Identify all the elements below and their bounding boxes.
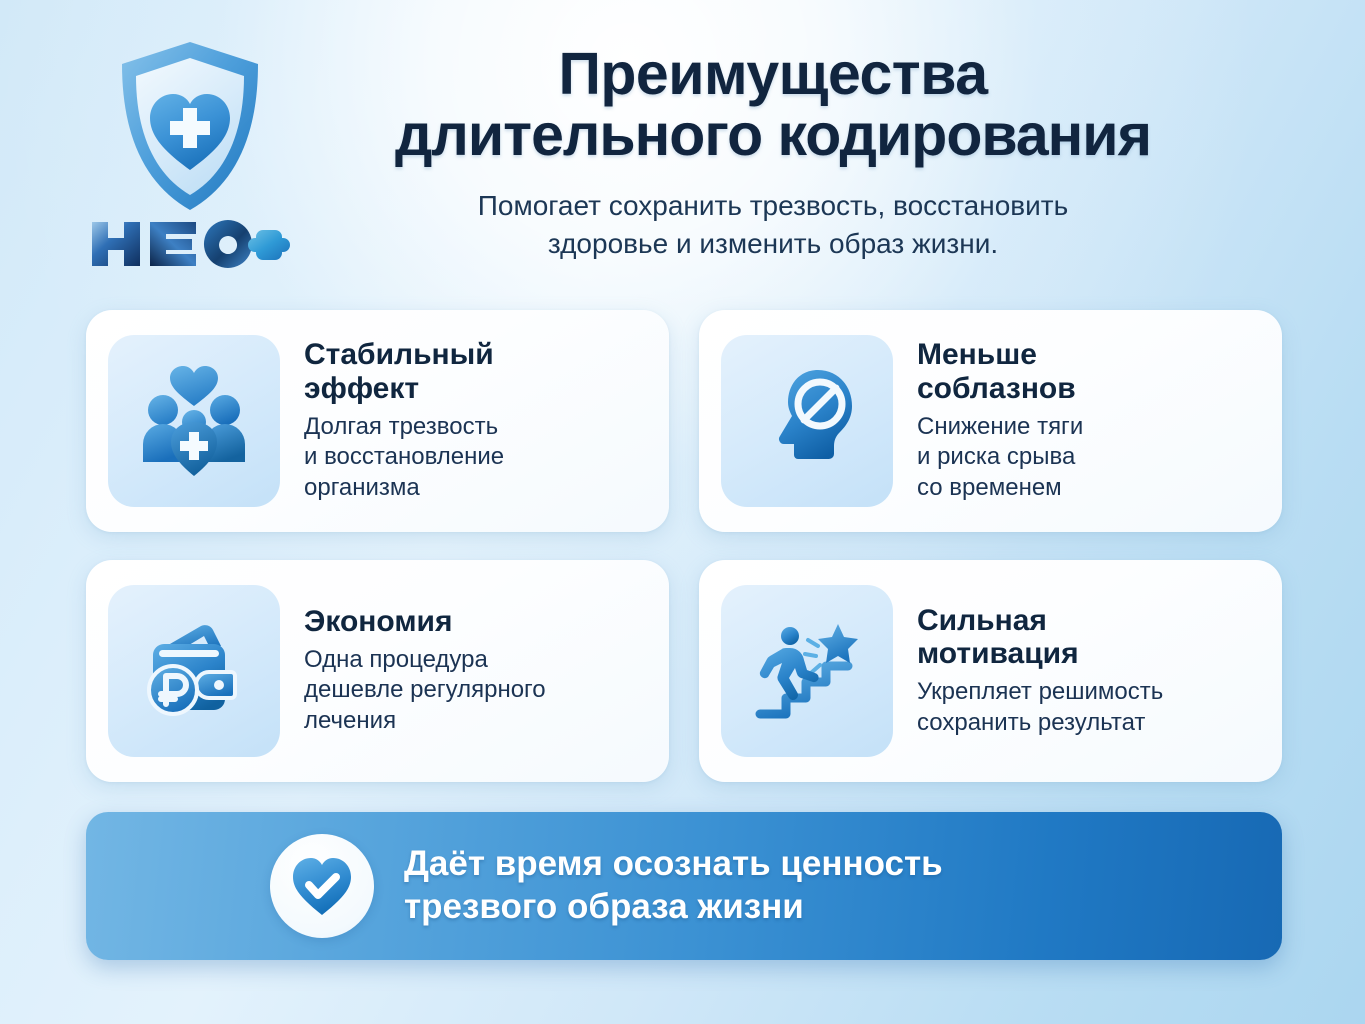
card-description: Долгая трезвость и восстановление органи… [304, 412, 504, 504]
head-prohibition-icon [746, 360, 868, 482]
card-title-line-2: мотивация [917, 637, 1079, 670]
card-desc-line-1: Одна процедура [304, 646, 488, 673]
icon-tile [108, 335, 280, 507]
benefit-card-strong-motivation[interactable]: Сильная мотивация Укрепляет решимость со… [699, 560, 1282, 782]
benefit-card-grid: Стабильный эффект Долгая трезвость и вос… [86, 310, 1282, 782]
family-heart-plus-icon [133, 360, 255, 482]
card-title-line-2: соблазнов [917, 372, 1076, 405]
icon-tile [721, 335, 893, 507]
banner-line-2: трезвого образа жизни [404, 887, 804, 926]
card-title-line-2: эффект [304, 372, 419, 405]
card-title: Меньше соблазнов [917, 338, 1083, 405]
infographic-root: Преимущества длительного кодирования Пом… [0, 0, 1365, 1024]
card-text: Сильная мотивация Укрепляет решимость со… [893, 604, 1167, 739]
card-description: Одна процедура дешевле регулярного лечен… [304, 645, 546, 737]
header: Преимущества длительного кодирования Пом… [0, 0, 1365, 300]
page-subtitle: Помогает сохранить трезвость, восстанови… [268, 187, 1278, 263]
page-title-line-2: длительного кодирования [395, 102, 1151, 168]
card-desc-line-1: Укрепляет решимость [917, 678, 1163, 705]
card-title: Стабильный эффект [304, 338, 504, 405]
card-desc-line-3: лечения [304, 707, 396, 734]
icon-tile [108, 585, 280, 757]
card-desc-line-3: организма [304, 474, 420, 501]
card-title-line-1: Экономия [304, 605, 452, 638]
card-title: Экономия [304, 605, 546, 639]
title-block: Преимущества длительного кодирования Пом… [268, 44, 1278, 263]
card-title-line-1: Сильная [917, 604, 1047, 637]
heart-check-icon [289, 853, 355, 919]
card-description: Снижение тяги и риска срыва со временем [917, 412, 1083, 504]
benefit-card-stable-effect[interactable]: Стабильный эффект Долгая трезвость и вос… [86, 310, 669, 532]
card-description: Укрепляет решимость сохранить результат [917, 677, 1163, 738]
benefit-card-fewer-temptations[interactable]: Меньше соблазнов Снижение тяги и риска с… [699, 310, 1282, 532]
person-stairs-star-icon [746, 610, 868, 732]
card-desc-line-2: и восстановление [304, 443, 504, 470]
page-subtitle-line-1: Помогает сохранить трезвость, восстанови… [478, 190, 1068, 221]
card-text: Экономия Одна процедура дешевле регулярн… [280, 605, 550, 737]
banner-icon-circle [270, 834, 374, 938]
wallet-ruble-icon [133, 610, 255, 732]
banner-text: Даёт время осознать ценность трезвого об… [404, 843, 943, 928]
page-title: Преимущества длительного кодирования [268, 44, 1278, 167]
bottom-banner[interactable]: Даёт время осознать ценность трезвого об… [86, 812, 1282, 960]
page-title-line-1: Преимущества [558, 41, 987, 107]
card-desc-line-2: сохранить результат [917, 709, 1145, 736]
card-title-line-1: Меньше [917, 338, 1037, 371]
icon-tile [721, 585, 893, 757]
card-title: Сильная мотивация [917, 604, 1163, 671]
card-text: Стабильный эффект Долгая трезвость и вос… [280, 338, 508, 503]
card-desc-line-1: Долгая трезвость [304, 413, 498, 440]
banner-line-1: Даёт время осознать ценность [404, 844, 943, 883]
card-desc-line-3: со временем [917, 474, 1062, 501]
neo-plus-wordmark [88, 216, 293, 272]
card-text: Меньше соблазнов Снижение тяги и риска с… [893, 338, 1087, 503]
card-desc-line-1: Снижение тяги [917, 413, 1083, 440]
benefit-card-savings[interactable]: Экономия Одна процедура дешевле регулярн… [86, 560, 669, 782]
card-title-line-1: Стабильный [304, 338, 494, 371]
page-subtitle-line-2: здоровье и изменить образ жизни. [548, 228, 998, 259]
card-desc-line-2: дешевле регулярного [304, 676, 546, 703]
card-desc-line-2: и риска срыва [917, 443, 1075, 470]
shield-heart-plus-icon [116, 38, 264, 214]
